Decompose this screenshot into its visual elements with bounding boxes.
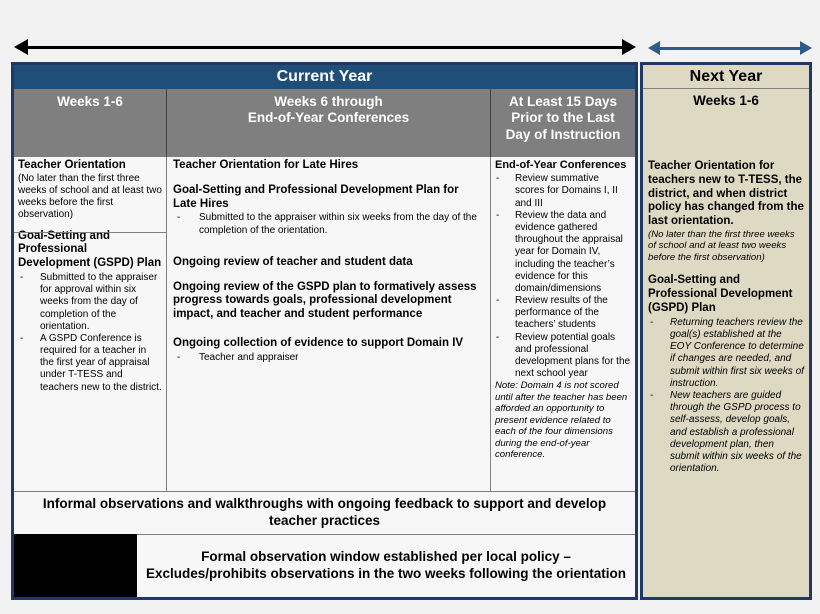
period-header-line2: Prior to the Last (506, 110, 621, 126)
period-header-weeks-1-6: Weeks 1-6 (14, 89, 167, 157)
col3-heading-eoy-conferences: End-of-Year Conferences (495, 159, 631, 172)
current-year-arrow-icon (14, 44, 636, 51)
col4-heading-teacher-orientation: Teacher Orientation for teachers new to … (648, 160, 804, 229)
list-item: Submitted to the appraiser within six we… (173, 212, 484, 236)
period-header-label: Weeks 1-6 (57, 94, 123, 110)
list-item: A GSPD Conference is required for a teac… (18, 333, 162, 394)
list-item: Review results of the performance of the… (495, 295, 631, 332)
col3-note-domain-4: Note: Domain 4 is not scored until after… (495, 380, 631, 461)
period-header-label: Weeks 1-6 (693, 93, 759, 108)
next-year-banner: Next Year (643, 65, 809, 89)
col4-heading-gspd-plan: Goal-Setting and Professional Developmen… (648, 274, 804, 315)
col1-heading-teacher-orientation: Teacher Orientation (18, 159, 162, 173)
col4-note-orientation-timing: (No later than the first three weeks of … (648, 229, 804, 264)
arrow-head-right (800, 41, 812, 55)
col4-bullet-list: Returning teachers review the goal(s) es… (648, 317, 804, 475)
timeline-arrows (0, 34, 820, 62)
period-header-weeks-6-through-eoy: Weeks 6 through End-of-Year Conferences (167, 89, 491, 157)
current-year-banner: Current Year (14, 65, 635, 89)
formal-observation-blocked-block (14, 534, 137, 597)
col1-note-orientation-timing: (No later than the first three weeks of … (18, 173, 162, 222)
col3-bullet-list: Review summative scores for Domains I, I… (495, 173, 631, 380)
list-item: Teacher and appraiser (173, 352, 484, 364)
list-item: Review potential goals and professional … (495, 332, 631, 381)
period-header-15-days-prior: At Least 15 Days Prior to the Last Day o… (491, 89, 635, 157)
row-formal-observation-window: Formal observation window established pe… (137, 534, 635, 597)
period-header-next-year-weeks-1-6: Weeks 1-6 (643, 89, 809, 157)
period-header-line3: Day of Instruction (506, 127, 621, 143)
col2-bullet-list-gspd: Submitted to the appraiser within six we… (173, 212, 484, 236)
col2-heading-ongoing-review-data: Ongoing review of teacher and student da… (173, 256, 484, 270)
col2-heading-teacher-orientation-late-hires: Teacher Orientation for Late Hires (173, 159, 484, 173)
list-item: Returning teachers review the goal(s) es… (648, 317, 804, 390)
period-header-line1: Weeks 6 through (248, 94, 409, 110)
list-item: Review summative scores for Domains I, I… (495, 173, 631, 210)
column-next-year-content: Teacher Orientation for teachers new to … (643, 157, 809, 597)
arrow-shaft (26, 46, 624, 49)
column-15-days-prior-content: End-of-Year Conferences Review summative… (491, 157, 635, 491)
column-weeks-1-6-content: Teacher Orientation (No later than the f… (14, 157, 167, 491)
timeline-infographic: Current Year Next Year Weeks 1-6 Weeks 6… (0, 0, 820, 614)
row-informal-observations: Informal observations and walkthroughs w… (14, 491, 635, 534)
col2-bullet-list-evidence: Teacher and appraiser (173, 352, 484, 364)
period-header-line2: End-of-Year Conferences (248, 110, 409, 126)
column-weeks-6-through-eoy-content: Teacher Orientation for Late Hires Goal-… (167, 157, 491, 491)
col2-heading-ongoing-collection-evidence: Ongoing collection of evidence to suppor… (173, 337, 484, 351)
list-item: Submitted to the appraiser for approval … (18, 272, 162, 333)
col2-heading-gspd-late-hires: Goal-Setting and Professional Developmen… (173, 184, 484, 212)
col2-heading-ongoing-review-gspd: Ongoing review of the GSPD plan to forma… (173, 281, 484, 322)
arrow-shaft (658, 47, 802, 50)
arrow-head-right (622, 39, 636, 55)
period-header-line1: At Least 15 Days (506, 94, 621, 110)
col1-bullet-list: Submitted to the appraiser for approval … (18, 272, 162, 394)
col1-section-divider (14, 232, 167, 233)
next-year-arrow-icon (648, 45, 812, 51)
list-item: New teachers are guided through the GSPD… (648, 390, 804, 475)
list-item: Review the data and evidence gathered th… (495, 210, 631, 295)
col1-heading-gspd-plan: Goal-Setting and Professional Developmen… (18, 230, 162, 271)
